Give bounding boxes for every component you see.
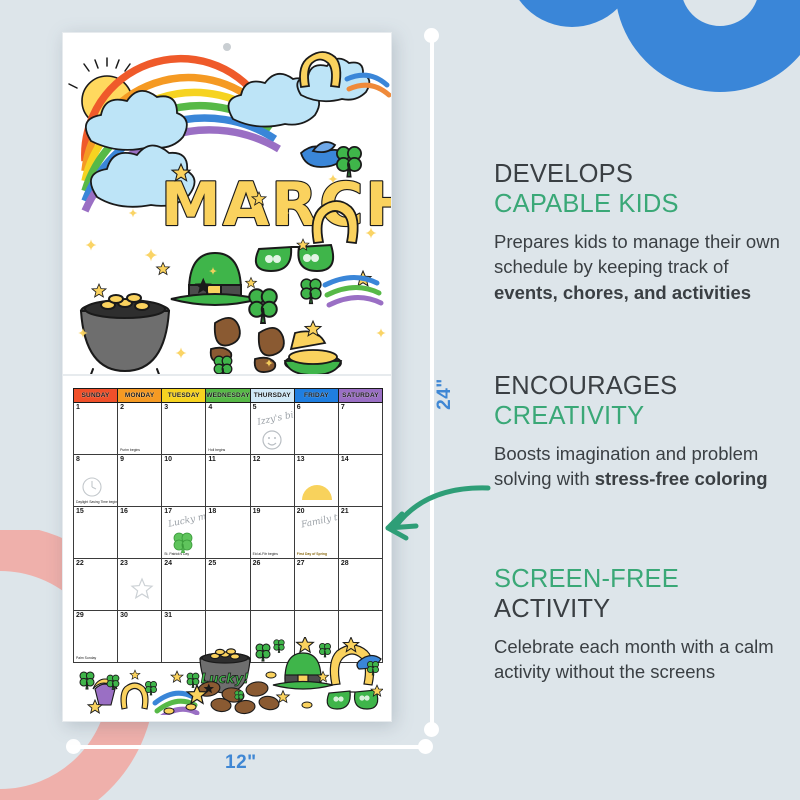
day-number: 19 xyxy=(253,508,261,515)
day-header-friday: FRIDAY xyxy=(294,388,338,403)
calendar-day-9: 9 xyxy=(117,455,161,507)
day-header-thursday: THURSDAY xyxy=(250,388,294,403)
day-number: 25 xyxy=(208,560,216,567)
day-number: 31 xyxy=(164,612,172,619)
pointer-arrow-icon xyxy=(330,470,500,560)
day-number: 3 xyxy=(164,404,168,411)
feature-body: Celebrate each month with a calm activit… xyxy=(494,634,790,685)
day-header-sunday: SUNDAY xyxy=(73,388,117,403)
calendar-day-4: 4Holi begins xyxy=(205,403,249,455)
feature-develops-capable-kids: DEVELOPS CAPABLE KIDS Prepares kids to m… xyxy=(494,160,790,305)
feature-heading: ENCOURAGES CREATIVITY xyxy=(494,372,790,432)
feature-heading-line2: CREATIVITY xyxy=(494,402,644,430)
day-number: 15 xyxy=(76,508,84,515)
day-number: 14 xyxy=(341,456,349,463)
day-event-label: First Day of Spring xyxy=(297,553,327,557)
height-guide-dot-bottom xyxy=(424,722,439,737)
width-guide-line xyxy=(72,745,432,749)
day-number: 26 xyxy=(253,560,261,567)
feature-list: DEVELOPS CAPABLE KIDS Prepares kids to m… xyxy=(494,0,794,800)
day-event-label: Eid al-Fitr begins xyxy=(253,553,278,557)
day-of-week-header-row: SUNDAYMONDAYTUESDAYWEDNESDAYTHURSDAYFRID… xyxy=(73,388,383,403)
day-number: 20 xyxy=(297,508,305,515)
width-guide-dot-left xyxy=(66,739,81,754)
feature-heading-line1: DEVELOPS xyxy=(494,160,633,188)
feature-heading-line2: ACTIVITY xyxy=(494,595,610,623)
day-number: 22 xyxy=(76,560,84,567)
feature-screen-free-activity: SCREEN-FREE ACTIVITY Celebrate each mont… xyxy=(494,565,790,685)
day-number: 8 xyxy=(76,456,80,463)
calendar-day-3: 3 xyxy=(161,403,205,455)
day-number: 30 xyxy=(120,612,128,619)
feature-heading-line1: SCREEN-FREE xyxy=(494,565,679,593)
calendar-day-24: 24 xyxy=(161,559,205,611)
day-number: 27 xyxy=(297,560,305,567)
calendar-day-10: 10 xyxy=(161,455,205,507)
calendar-week-row: 12Purim begins34Holi begins5Izzy's birth… xyxy=(73,403,383,455)
calendar-day-1: 1 xyxy=(73,403,117,455)
height-dimension-label: 24" xyxy=(434,378,456,410)
day-event-label: St. Patrick's Day xyxy=(164,553,189,557)
march-cover-artwork: MARCH xyxy=(63,33,392,375)
width-guide-dot-right xyxy=(418,739,433,754)
calendar-day-18: 18 xyxy=(205,507,249,559)
feature-body-plain: Prepares kids to manage their own schedu… xyxy=(494,231,780,278)
day-number: 18 xyxy=(208,508,216,515)
feature-heading-line2: CAPABLE KIDS xyxy=(494,190,679,218)
day-number: 12 xyxy=(253,456,261,463)
feature-heading: DEVELOPS CAPABLE KIDS xyxy=(494,160,790,220)
day-number: 23 xyxy=(120,560,128,567)
day-number: 1 xyxy=(76,404,80,411)
day-event-label: Daylight Saving Time begins xyxy=(76,501,119,505)
day-number: 5 xyxy=(253,404,257,411)
calendar-day-5: 5Izzy's birthday xyxy=(250,403,294,455)
day-event-label: Purim begins xyxy=(120,449,140,453)
calendar-day-17: 17St. Patrick's DayLucky me! xyxy=(161,507,205,559)
day-number: 13 xyxy=(297,456,305,463)
feature-heading: SCREEN-FREE ACTIVITY xyxy=(494,565,790,625)
feature-body-bold: stress-free coloring xyxy=(595,468,768,489)
feature-body-plain: Celebrate each month with a calm activit… xyxy=(494,636,774,683)
calendar-day-16: 16 xyxy=(117,507,161,559)
calendar-day-23: 23 xyxy=(117,559,161,611)
calendar-week-row: 22232425262728 xyxy=(73,559,383,611)
day-number: 24 xyxy=(164,560,172,567)
calendar-day-12: 12 xyxy=(250,455,294,507)
width-dimension-label: 12" xyxy=(225,752,257,774)
calendar-day-26: 26 xyxy=(250,559,294,611)
footer-doodle-artwork: Lucky! xyxy=(73,637,383,715)
feature-heading-line1: ENCOURAGES xyxy=(494,372,677,400)
calendar-day-25: 25 xyxy=(205,559,249,611)
day-header-wednesday: WEDNESDAY xyxy=(205,388,249,403)
feature-body: Boosts imagination and problem solving w… xyxy=(494,441,790,492)
feature-body-bold: events, chores, and activities xyxy=(494,282,751,303)
calendar-product-image: MARCH xyxy=(62,32,392,722)
calendar-day-6: 6 xyxy=(294,403,338,455)
day-event-label: Holi begins xyxy=(208,449,225,453)
day-number: 2 xyxy=(120,404,124,411)
day-number: 10 xyxy=(164,456,172,463)
day-number: 7 xyxy=(341,404,345,411)
day-number: 16 xyxy=(120,508,128,515)
calendar-day-2: 2Purim begins xyxy=(117,403,161,455)
calendar-day-15: 15 xyxy=(73,507,117,559)
hanging-hole-icon xyxy=(223,43,231,51)
day-number: 9 xyxy=(120,456,124,463)
day-number: 4 xyxy=(208,404,212,411)
calendar-day-22: 22 xyxy=(73,559,117,611)
calendar-day-11: 11 xyxy=(205,455,249,507)
calendar-day-28: 28 xyxy=(338,559,383,611)
feature-body: Prepares kids to manage their own schedu… xyxy=(494,229,790,306)
day-header-saturday: SATURDAY xyxy=(338,388,383,403)
calendar-top-page: MARCH xyxy=(62,32,392,375)
day-number: 11 xyxy=(208,456,215,463)
calendar-day-19: 19Eid al-Fitr begins xyxy=(250,507,294,559)
height-guide-dot-top xyxy=(424,28,439,43)
day-number: 28 xyxy=(341,560,349,567)
calendar-day-27: 27 xyxy=(294,559,338,611)
day-number: 29 xyxy=(76,612,84,619)
calendar-day-8: 8Daylight Saving Time begins xyxy=(73,455,117,507)
calendar-day-7: 7 xyxy=(338,403,383,455)
day-number: 17 xyxy=(164,508,172,515)
day-header-monday: MONDAY xyxy=(117,388,161,403)
day-header-tuesday: TUESDAY xyxy=(161,388,205,403)
day-number: 6 xyxy=(297,404,301,411)
feature-encourages-creativity: ENCOURAGES CREATIVITY Boosts imagination… xyxy=(494,372,790,492)
